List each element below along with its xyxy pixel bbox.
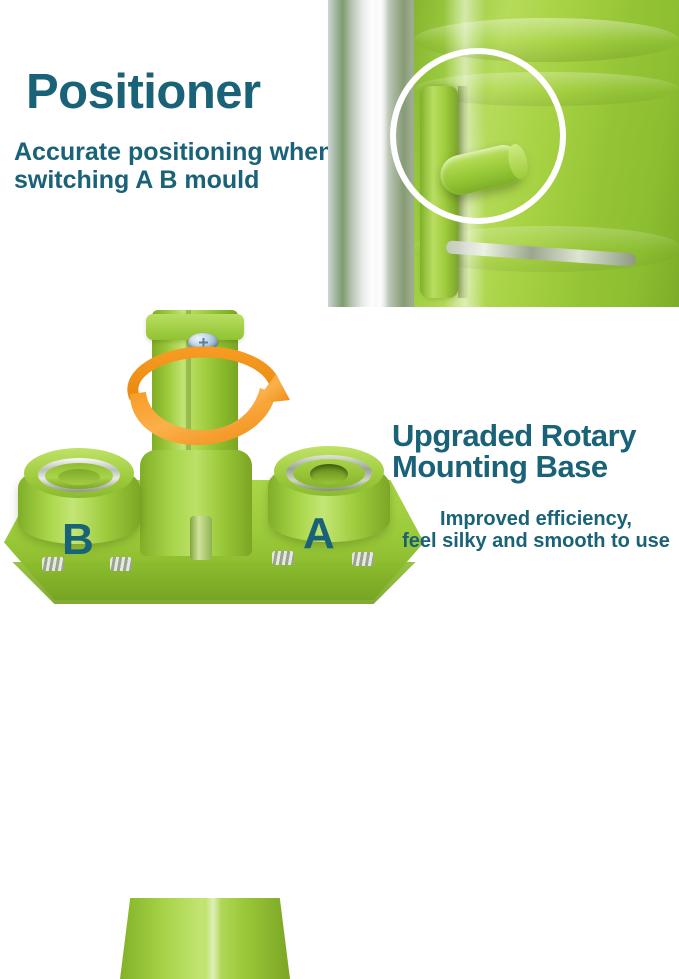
rotary-subtitle: Improved efficiency, feel silky and smoo… [392, 508, 679, 553]
rotary-headline-line1: Upgraded Rotary [392, 418, 636, 453]
rotary-subtitle-line1: Improved efficiency, [440, 508, 632, 530]
chrome-post-shine [372, 0, 388, 307]
station-b-spring-left [42, 557, 64, 571]
mounting-plate-edge [4, 562, 424, 604]
rotary-headline: Upgraded Rotary Mounting Base [392, 420, 679, 482]
positioner-headline: Positioner [26, 68, 261, 117]
positioner-closeup-photo [328, 0, 679, 307]
station-a-core [310, 464, 348, 484]
station-a-spring-right [352, 552, 374, 566]
rotary-headline-line2: Mounting Base [392, 451, 679, 482]
positioner-subtitle: Accurate positioning when switching A B … [14, 138, 344, 194]
positioner-subtitle-line2: switching A B mould [14, 166, 344, 194]
station-b-spring-right [110, 557, 132, 571]
station-label-b: B [62, 518, 94, 562]
rotation-arrow-icon [120, 344, 290, 454]
product-infographic: Positioner Accurate positioning when swi… [0, 0, 679, 679]
station-b-core [58, 469, 100, 485]
rotary-subtitle-line2: feel silky and smooth to use [392, 530, 679, 552]
positioner-subtitle-line1: Accurate positioning when [14, 138, 333, 166]
base-pedestal-shine [205, 898, 221, 979]
rotary-mounting-base-photo [0, 300, 430, 679]
station-a-spring-left [272, 551, 294, 565]
center-hub-slot [190, 516, 212, 560]
station-label-a: A [303, 512, 335, 556]
white-circle-callout [390, 48, 566, 224]
